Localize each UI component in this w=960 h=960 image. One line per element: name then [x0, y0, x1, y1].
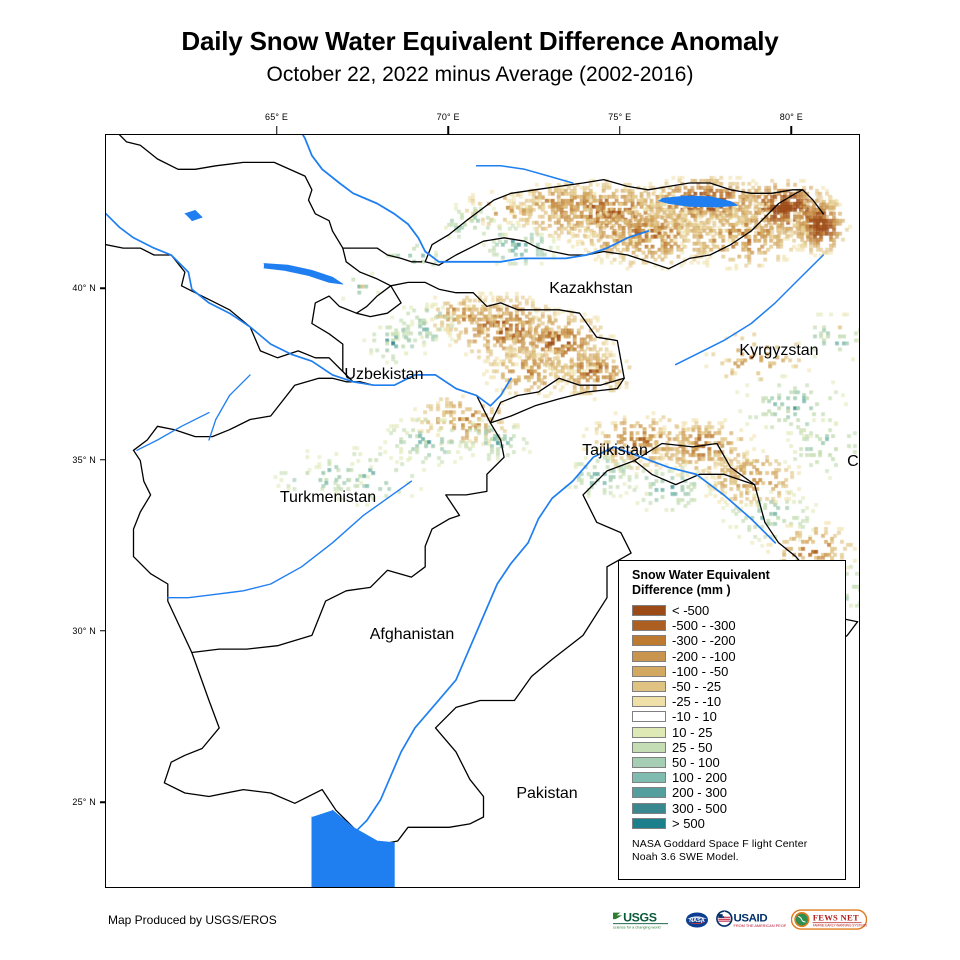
lat-tick-label: 25° N	[62, 797, 96, 807]
legend-row: -100 - -50	[632, 664, 845, 679]
river-hari-rud	[137, 413, 209, 451]
lon-tick-label: 80° E	[780, 112, 803, 122]
legend-row: 200 - 300	[632, 785, 845, 800]
legend-label: -50 - -25	[672, 680, 721, 693]
legend-row: -500 - -300	[632, 618, 845, 633]
legend-swatch	[632, 635, 666, 646]
legend-label: 25 - 50	[672, 741, 712, 754]
legend-swatch	[632, 711, 666, 722]
usaid-logo: USAID FROM THE AMERICAN PEOPLE	[714, 909, 786, 931]
legend-items: < -500-500 - -300-300 - -200-200 - -100-…	[632, 603, 845, 831]
legend-swatch	[632, 787, 666, 798]
lake-aydar	[264, 264, 343, 285]
river-chu	[477, 166, 573, 183]
legend-row: -200 - -100	[632, 649, 845, 664]
legend-swatch	[632, 742, 666, 753]
svg-text:science for a changing world: science for a changing world	[613, 926, 661, 930]
lon-tick-label: 70° E	[437, 112, 460, 122]
legend-label: 100 - 200	[672, 771, 727, 784]
svg-text:USGS: USGS	[623, 910, 657, 924]
legend-swatch	[632, 818, 666, 829]
legend-label: -500 - -300	[672, 619, 736, 632]
nasa-logo: NASA	[685, 909, 709, 931]
border-afghanistan-north	[134, 378, 361, 450]
page-subtitle: October 22, 2022 minus Average (2002-201…	[0, 62, 960, 88]
legend-row: > 500	[632, 816, 845, 831]
legend-swatch	[632, 727, 666, 738]
fewsnet-logo: FEWS NET FAMINE EARLY WARNING SYSTEMS NE…	[791, 909, 867, 931]
legend-swatch	[632, 696, 666, 707]
legend-label: -10 - 10	[672, 710, 717, 723]
legend-swatch	[632, 620, 666, 631]
legend-label: -200 - -100	[672, 650, 736, 663]
legend-row: 50 - 100	[632, 755, 845, 770]
legend-row: 10 - 25	[632, 725, 845, 740]
lon-tick-label: 75° E	[608, 112, 631, 122]
legend-source-line2: Noah 3.6 SWE Model.	[632, 851, 845, 864]
title-block: Daily Snow Water Equivalent Difference A…	[0, 26, 960, 88]
legend-source-line1: NASA Goddard Space F light Center	[632, 838, 845, 851]
border-kyrgyzstan-north	[425, 180, 803, 262]
legend-label: -100 - -50	[672, 665, 728, 678]
legend-row: -300 - -200	[632, 633, 845, 648]
legend-swatch	[632, 666, 666, 677]
border-pakistan-china-loc	[635, 461, 755, 485]
usgs-logo: USGS science for a changing world	[612, 909, 680, 931]
legend-swatch	[632, 651, 666, 662]
lake-issyk-kul	[659, 196, 738, 207]
legend-label: 200 - 300	[672, 786, 727, 799]
svg-text:FAMINE EARLY WARNING SYSTEMS N: FAMINE EARLY WARNING SYSTEMS NETWORK	[813, 924, 867, 928]
border-pakistan-north	[490, 378, 624, 423]
lake-sarygamysh	[185, 210, 202, 220]
legend-swatch	[632, 803, 666, 814]
legend-label: 50 - 100	[672, 756, 720, 769]
svg-text:NASA: NASA	[689, 918, 705, 924]
legend-row: -50 - -25	[632, 679, 845, 694]
lat-tick-label: 30° N	[62, 626, 96, 636]
legend-label: 10 - 25	[672, 726, 712, 739]
legend-label: > 500	[672, 817, 705, 830]
page-title: Daily Snow Water Equivalent Difference A…	[0, 26, 960, 56]
border-china-northwest	[803, 190, 824, 214]
legend-title-line1: Snow Water Equivalent	[632, 568, 832, 583]
river-helmand	[168, 481, 412, 598]
legend-row: -25 - -10	[632, 694, 845, 709]
legend-panel: Snow Water Equivalent Difference (mm ) <…	[618, 560, 846, 880]
legend-label: 300 - 500	[672, 802, 727, 815]
legend-swatch	[632, 681, 666, 692]
river-amu-darya	[106, 214, 511, 406]
legend-row: 300 - 500	[632, 800, 845, 815]
lat-tick-label: 40° N	[62, 283, 96, 293]
legend-label: -300 - -200	[672, 634, 736, 647]
legend-swatch	[632, 605, 666, 616]
legend-row: 100 - 200	[632, 770, 845, 785]
sea-arabian	[312, 810, 394, 888]
border-kyrgyzstan-south	[425, 190, 803, 269]
legend-title-line2: Difference (mm )	[632, 583, 832, 598]
river-syr-darya	[295, 135, 648, 262]
border-uzbekistan-east	[312, 248, 401, 371]
svg-text:USAID: USAID	[734, 912, 768, 924]
svg-text:FROM THE AMERICAN PEOPLE: FROM THE AMERICAN PEOPLE	[734, 924, 787, 928]
lat-tick-label: 35° N	[62, 455, 96, 465]
legend-row: < -500	[632, 603, 845, 618]
legend-swatch	[632, 772, 666, 783]
svg-text:FEWS NET: FEWS NET	[813, 913, 859, 923]
river-yarkand	[676, 255, 824, 365]
border-tajikistan-nw	[357, 286, 391, 313]
legend-row: 25 - 50	[632, 740, 845, 755]
legend-title: Snow Water Equivalent Difference (mm )	[632, 568, 832, 598]
lon-tick-label: 65° E	[265, 112, 288, 122]
border-kazakhstan-south	[106, 135, 422, 262]
footer-credit: Map Produced by USGS/EROS	[108, 913, 277, 927]
logo-strip: USGS science for a changing world NASA U…	[612, 908, 867, 932]
legend-label: -25 - -10	[672, 695, 721, 708]
legend-swatch	[632, 757, 666, 768]
legend-row: -10 - 10	[632, 709, 845, 724]
legend-label: < -500	[672, 604, 709, 617]
border-afghanistan-south	[134, 423, 505, 653]
legend-source: NASA Goddard Space F light Center Noah 3…	[632, 838, 845, 864]
